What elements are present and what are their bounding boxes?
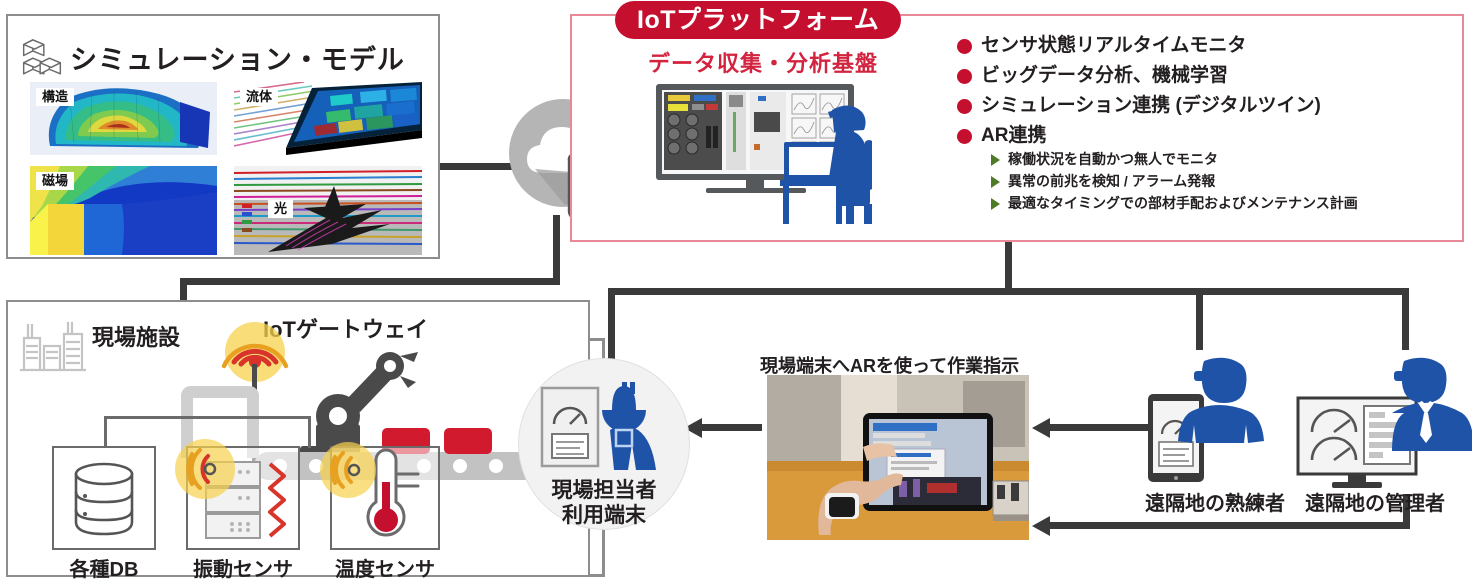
temperature-signal-icon <box>312 434 384 506</box>
bullet-dot-icon <box>957 69 972 84</box>
bullet-item: AR連携 <box>957 124 1457 147</box>
field-worker-label-line2: 利用端末 <box>562 504 646 527</box>
factory-panel-title: 現場施設 <box>92 320 180 352</box>
wire-db-branch <box>104 416 107 448</box>
bullet-text: AR連携 <box>981 124 1046 147</box>
wire-manager-to-ar <box>1050 522 1410 529</box>
field-worker-label-line1: 現場担当者 <box>552 479 657 502</box>
vibration-sensor-label: 振動センサ <box>176 553 310 582</box>
triangle-icon <box>991 154 1000 166</box>
database-device-label: 各種DB <box>52 553 156 582</box>
structure-thumbnail: 構造 <box>30 82 217 155</box>
field-worker-device-icon <box>540 380 670 476</box>
structure-thumbnail-label: 構造 <box>36 88 74 106</box>
wire-field-to-factory <box>590 574 605 577</box>
sub-bullet-text: 最適なタイミングでの部材手配およびメンテナンス計画 <box>1008 194 1358 212</box>
wire-ar-drop <box>608 288 615 366</box>
simulation-model-panel: シミュレーション・モデル <box>6 14 440 259</box>
wire-factory-bus <box>180 278 560 285</box>
wire-expert-drop <box>1196 288 1203 350</box>
fluid-thumbnail: 流体 <box>234 82 422 155</box>
remote-expert-label: 遠隔地の熟練者 <box>1145 487 1285 516</box>
vibration-signal-icon <box>166 430 244 508</box>
bullet-dot-icon <box>957 129 972 144</box>
cubes-icon <box>20 38 64 84</box>
wire-distribution-bus <box>608 288 1408 295</box>
remote-manager-avatar <box>1382 355 1472 463</box>
vibration-sensor-device <box>186 446 300 550</box>
bullet-item: ビッグデータ分析、機械学習 <box>957 64 1457 87</box>
ar-tablet-photo <box>767 375 1029 540</box>
factory-icon <box>20 316 86 372</box>
iot-platform-subtitle: データ収集・分析基盤 <box>648 46 878 78</box>
bullet-item: センサ状態リアルタイムモニタ <box>957 34 1457 57</box>
sub-bullet-text: 異常の前兆を検知 / アラーム発報 <box>1008 172 1215 190</box>
wire-manager-drop <box>1402 288 1409 350</box>
wire-field-up <box>602 340 605 360</box>
magnetic-field-thumbnail-label: 磁場 <box>36 172 74 190</box>
bullet-dot-icon <box>957 99 972 114</box>
arrowhead-manager-to-ar <box>1032 516 1050 536</box>
sub-bullet-text: 稼働状況を自動かつ無人でモニタ <box>1008 150 1218 168</box>
remote-manager-label: 遠隔地の管理者 <box>1305 487 1445 516</box>
bullet-text: シミュレーション連携 (デジタルツイン) <box>981 94 1321 117</box>
wire-cloud-down <box>553 215 560 285</box>
wire-temp-branch <box>308 416 311 448</box>
sub-bullet-item: 異常の前兆を検知 / アラーム発報 <box>991 172 1457 190</box>
fluid-thumbnail-label: 流体 <box>240 88 278 106</box>
iot-platform-badge: IoTプラットフォーム <box>615 1 901 39</box>
remote-expert-avatar <box>1178 355 1278 460</box>
bullet-item: シミュレーション連携 (デジタルツイン) <box>957 94 1457 117</box>
bullet-dot-icon <box>957 39 972 54</box>
magnetic-field-thumbnail: 磁場 <box>30 166 217 255</box>
temperature-sensor-label: 温度センサ <box>320 553 450 582</box>
diagram-canvas: シミュレーション・モデル <box>0 0 1472 581</box>
bullet-text: センサ状態リアルタイムモニタ <box>981 34 1246 57</box>
optics-thumbnail-label: 光 <box>268 200 293 218</box>
wire-ar-to-field <box>700 424 762 431</box>
wire-device-bus <box>104 416 310 419</box>
wire-iot-down <box>1005 242 1012 290</box>
database-device <box>52 446 156 550</box>
control-room-illustration <box>650 82 872 224</box>
db-cylinder-icon <box>54 448 154 548</box>
simulation-panel-title: シミュレーション・モデル <box>70 38 405 77</box>
optics-thumbnail: 光 <box>234 166 422 255</box>
sub-bullet-item: 稼働状況を自動かつ無人でモニタ <box>991 150 1457 168</box>
arrowhead-expert-to-ar <box>1032 418 1050 438</box>
temperature-sensor-device <box>330 446 440 550</box>
triangle-icon <box>991 198 1000 210</box>
triangle-icon <box>991 176 1000 188</box>
factory-panel: 現場施設 IoTゲートウェイ <box>6 300 590 577</box>
bullet-text: ビッグデータ分析、機械学習 <box>981 64 1228 87</box>
sub-bullet-item: 最適なタイミングでの部材手配およびメンテナンス計画 <box>991 194 1457 212</box>
field-worker-label: 現場担当者 利用端末 <box>518 478 690 528</box>
conveyor-box <box>444 428 492 454</box>
iot-bullet-list: センサ状態リアルタイムモニタ ビッグデータ分析、機械学習 シミュレーション連携 … <box>957 34 1457 216</box>
